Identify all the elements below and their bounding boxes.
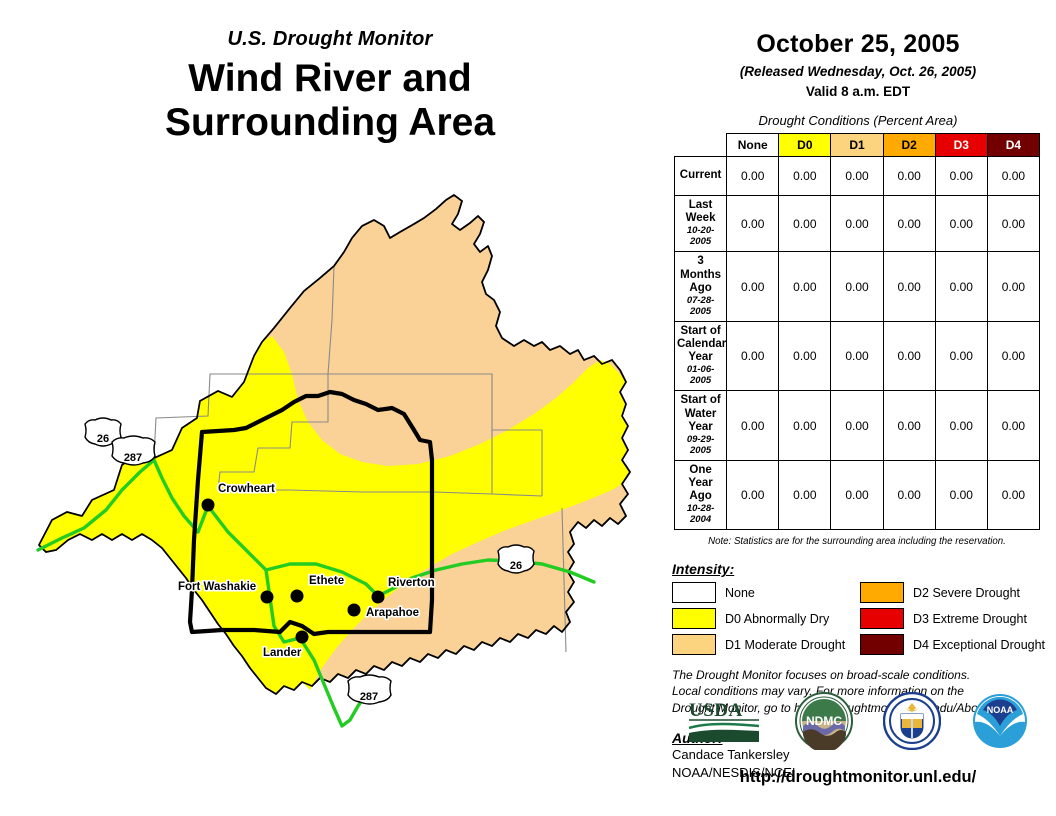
report-date: October 25, 2005	[660, 30, 1056, 59]
legend-item-d1: D1 Moderate Drought	[672, 634, 860, 655]
website-url[interactable]: http://droughtmonitor.unl.edu/	[660, 768, 1056, 787]
table-corner-cell	[675, 134, 727, 157]
cell-calyear-none: 0.00	[727, 321, 779, 391]
svg-text:NDMC: NDMC	[806, 714, 842, 728]
row-label-text-line2: Calendar Year	[677, 338, 726, 363]
cell-current-d3: 0.00	[935, 157, 987, 196]
city-label-lander: Lander	[263, 647, 302, 659]
cell-lastweek-d4: 0.00	[987, 196, 1039, 252]
legend-row: None D2 Severe Drought	[672, 582, 1056, 603]
drought-conditions-table: None D0 D1 D2 D3 D4 Current 0.00 0.00 0.…	[674, 133, 1040, 530]
city-label-arapahoe: Arapahoe	[366, 607, 419, 619]
swatch-d0	[672, 608, 716, 629]
row-label-current: Current	[675, 157, 727, 196]
legend-item-none: None	[672, 582, 860, 603]
cell-3months-none: 0.00	[727, 252, 779, 322]
table-caption: Drought Conditions (Percent Area)	[660, 113, 1056, 128]
shield-us-26-east: 26	[498, 545, 534, 573]
swatch-none	[672, 582, 716, 603]
cell-calyear-d1: 0.00	[831, 321, 883, 391]
cell-current-d0: 0.00	[779, 157, 831, 196]
city-point-lander	[296, 631, 309, 644]
report-valid-time: Valid 8 a.m. EDT	[660, 84, 1056, 99]
cell-lastweek-d0: 0.00	[779, 196, 831, 252]
cell-wateryear-d3: 0.00	[935, 391, 987, 461]
cell-oneyear-d3: 0.00	[935, 460, 987, 530]
legend-label-d0: D0 Abnormally Dry	[725, 612, 829, 626]
row-label-text: Current	[680, 169, 722, 181]
city-point-riverton	[372, 591, 385, 604]
row-label-date: 07-28-2005	[677, 296, 724, 318]
city-point-crowheart	[202, 499, 215, 512]
row-label-text: 3 Months Ago	[680, 255, 721, 293]
legend-item-d2: D2 Severe Drought	[860, 582, 1048, 603]
table-row: Start of Calendar Year 01-06-2005 0.00 0…	[675, 321, 1040, 391]
column-header-d0: D0	[779, 134, 831, 157]
cell-oneyear-none: 0.00	[727, 460, 779, 530]
table-row: Last Week 10-20-2005 0.00 0.00 0.00 0.00…	[675, 196, 1040, 252]
table-row: 3 Months Ago 07-28-2005 0.00 0.00 0.00 0…	[675, 252, 1040, 322]
svg-text:USDA: USDA	[689, 700, 743, 721]
row-label-text-line1: Start of	[680, 394, 720, 406]
svg-text:26: 26	[97, 433, 109, 445]
cell-oneyear-d0: 0.00	[779, 460, 831, 530]
cell-calyear-d4: 0.00	[987, 321, 1039, 391]
row-label-text: One Year Ago	[688, 464, 712, 502]
cell-current-none: 0.00	[727, 157, 779, 196]
legend-row: D0 Abnormally Dry D3 Extreme Drought	[672, 608, 1056, 629]
cell-current-d2: 0.00	[883, 157, 935, 196]
row-label-text: Last Week	[686, 199, 716, 224]
shield-us-287-west: 287	[112, 436, 155, 465]
row-label-date: 01-06-2005	[677, 365, 724, 387]
svg-text:26: 26	[510, 560, 522, 572]
legend-label-d3: D3 Extreme Drought	[913, 612, 1027, 626]
cell-wateryear-d1: 0.00	[831, 391, 883, 461]
usdc-seal[interactable]	[883, 692, 941, 750]
intensity-legend: Intensity: None D2 Severe Drought D0 Abn…	[672, 561, 1056, 655]
cell-3months-d2: 0.00	[883, 252, 935, 322]
report-released-date: (Released Wednesday, Oct. 26, 2005)	[660, 64, 1056, 79]
legend-label-d2: D2 Severe Drought	[913, 586, 1020, 600]
city-point-arapahoe	[348, 604, 361, 617]
row-label-last-week: Last Week 10-20-2005	[675, 196, 727, 252]
cell-current-d4: 0.00	[987, 157, 1039, 196]
legend-item-d4: D4 Exceptional Drought	[860, 634, 1048, 655]
cell-wateryear-d4: 0.00	[987, 391, 1039, 461]
cell-lastweek-d2: 0.00	[883, 196, 935, 252]
swatch-d2	[860, 582, 904, 603]
table-header-row: None D0 D1 D2 D3 D4	[675, 134, 1040, 157]
column-header-d1: D1	[831, 134, 883, 157]
shield-us-287-south: 287	[348, 675, 391, 704]
row-label-start-water-year: Start of Water Year 09-29-2005	[675, 391, 727, 461]
row-label-3-months-ago: 3 Months Ago 07-28-2005	[675, 252, 727, 322]
legend-row: D1 Moderate Drought D4 Exceptional Droug…	[672, 634, 1056, 655]
agency-logos: USDA NDMC	[660, 686, 1056, 756]
intensity-legend-title: Intensity:	[672, 561, 1056, 577]
legend-label-d4: D4 Exceptional Drought	[913, 638, 1045, 652]
right-panel: October 25, 2005 (Released Wednesday, Oc…	[660, 0, 1056, 816]
page-title-line2: Surrounding Area	[0, 101, 660, 145]
svg-text:287: 287	[360, 691, 378, 703]
cell-calyear-d3: 0.00	[935, 321, 987, 391]
cell-calyear-d0: 0.00	[779, 321, 831, 391]
row-label-date: 09-29-2005	[677, 435, 724, 457]
city-label-riverton: Riverton	[388, 577, 435, 589]
cell-3months-d3: 0.00	[935, 252, 987, 322]
page-title-superior: U.S. Drought Monitor	[0, 28, 660, 51]
city-label-ethete: Ethete	[309, 575, 344, 587]
cell-wateryear-none: 0.00	[727, 391, 779, 461]
legend-label-none: None	[725, 586, 755, 600]
cell-wateryear-d2: 0.00	[883, 391, 935, 461]
table-note: Note: Statistics are for the surrounding…	[674, 536, 1040, 547]
legend-item-d0: D0 Abnormally Dry	[672, 608, 860, 629]
column-header-none: None	[727, 134, 779, 157]
cell-oneyear-d1: 0.00	[831, 460, 883, 530]
row-label-text-line1: Start of	[680, 325, 720, 337]
city-label-crowheart: Crowheart	[218, 483, 275, 495]
row-label-start-calendar-year: Start of Calendar Year 01-06-2005	[675, 321, 727, 391]
page-title-block: U.S. Drought Monitor Wind River and Surr…	[0, 28, 660, 144]
column-header-d3: D3	[935, 134, 987, 157]
swatch-d4	[860, 634, 904, 655]
swatch-d1	[672, 634, 716, 655]
cell-wateryear-d0: 0.00	[779, 391, 831, 461]
row-label-date: 10-28-2004	[677, 504, 724, 526]
row-label-text-line2: Water Year	[685, 408, 717, 433]
cell-lastweek-none: 0.00	[727, 196, 779, 252]
table-row: Start of Water Year 09-29-2005 0.00 0.00…	[675, 391, 1040, 461]
row-label-one-year-ago: One Year Ago 10-28-2004	[675, 460, 727, 530]
map-svg[interactable]: Crowheart Fort Washakie Ethete Riverton …	[22, 160, 662, 810]
cell-calyear-d2: 0.00	[883, 321, 935, 391]
date-header: October 25, 2005 (Released Wednesday, Oc…	[660, 0, 1056, 99]
cell-3months-d0: 0.00	[779, 252, 831, 322]
cell-3months-d4: 0.00	[987, 252, 1039, 322]
table-row: One Year Ago 10-28-2004 0.00 0.00 0.00 0…	[675, 460, 1040, 530]
column-header-d2: D2	[883, 134, 935, 157]
cell-lastweek-d3: 0.00	[935, 196, 987, 252]
cell-oneyear-d4: 0.00	[987, 460, 1039, 530]
cell-oneyear-d2: 0.00	[883, 460, 935, 530]
table-row: Current 0.00 0.00 0.00 0.00 0.00 0.00	[675, 157, 1040, 196]
cell-lastweek-d1: 0.00	[831, 196, 883, 252]
svg-text:287: 287	[124, 452, 142, 464]
legend-label-d1: D1 Moderate Drought	[725, 638, 845, 652]
cell-3months-d1: 0.00	[831, 252, 883, 322]
legend-item-d3: D3 Extreme Drought	[860, 608, 1048, 629]
drought-map[interactable]: Crowheart Fort Washakie Ethete Riverton …	[22, 160, 662, 810]
svg-text:NOAA: NOAA	[987, 705, 1014, 715]
column-header-d4: D4	[987, 134, 1039, 157]
row-label-date: 10-20-2005	[677, 226, 724, 248]
usda-logo[interactable]: USDA	[687, 698, 765, 744]
city-point-ethete	[291, 590, 304, 603]
noaa-logo[interactable]: NOAA	[971, 692, 1029, 750]
page-title: Wind River and Surrounding Area	[0, 57, 660, 144]
disclaimer-line1: The Drought Monitor focuses on broad-sca…	[672, 667, 1056, 683]
city-point-fortwashakie	[261, 591, 274, 604]
city-label-fortwashakie: Fort Washakie	[178, 581, 256, 593]
cell-current-d1: 0.00	[831, 157, 883, 196]
swatch-d3	[860, 608, 904, 629]
page-title-line1: Wind River and	[0, 57, 660, 101]
ndmc-logo[interactable]: NDMC	[795, 692, 853, 750]
